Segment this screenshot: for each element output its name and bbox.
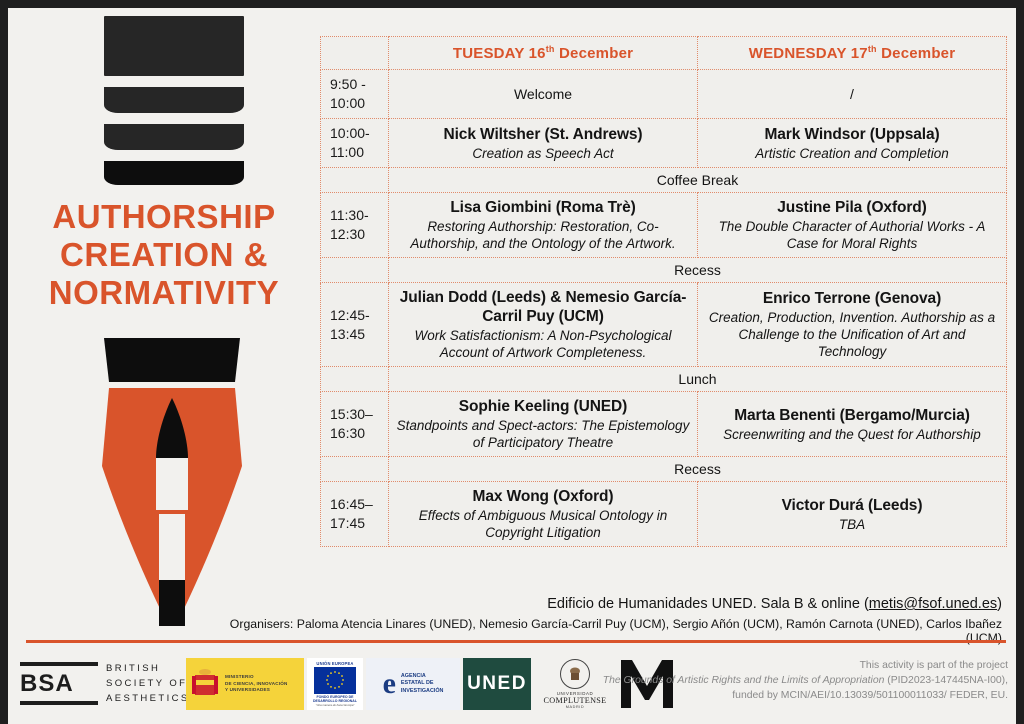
time-line-2: 16:30 [330, 424, 382, 443]
project-title-italic: The Grounds of Artistic Rights and the L… [603, 675, 885, 686]
time-line-1: 9:50 - [330, 75, 382, 94]
uned-wordmark: UNED [467, 673, 527, 695]
poster-title: AUTHORSHIP CREATION & NORMATIVITY [8, 198, 320, 312]
eu-top-label: UNIÓN EUROPEA [316, 661, 353, 666]
session-cell-tuesday: Julian Dodd (Leeds) & Nemesio García-Car… [389, 283, 698, 367]
session-title: Effects of Ambiguous Musical Ontology in… [395, 507, 691, 541]
aei-text: AGENCIA ESTATAL DE INVESTIGACIÓN [401, 673, 444, 695]
session-title: Creation, Production, Invention. Authors… [704, 309, 1000, 360]
venue-text: Edificio de Humanidades UNED. Sala B & o… [547, 596, 869, 612]
ministerio-line-3: Y UNIVERSIDADES [225, 687, 288, 693]
time-line-1: 10:00- [330, 124, 382, 143]
break-label: Coffee Break [389, 168, 1007, 193]
bsa-rule-bottom [20, 701, 98, 705]
session-title: Work Satisfactionism: A Non-Psychologica… [395, 327, 691, 361]
table-break-row: Recess [321, 258, 1007, 283]
time-line-2: 11:00 [330, 143, 382, 162]
uned-logo: UNED [463, 658, 531, 710]
header-wednesday-suffix: December [877, 45, 956, 62]
session-cell-wednesday: Victor Durá (Leeds)TBA [698, 482, 1007, 547]
break-label: Recess [389, 457, 1007, 482]
session-time: 15:30–16:30 [321, 392, 389, 457]
session-speaker: Victor Durá (Leeds) [704, 496, 1000, 515]
break-time-cell [321, 258, 389, 283]
pen-bar-1 [104, 16, 244, 76]
table-session-row: 16:45–17:45Max Wong (Oxford)Effects of A… [321, 482, 1007, 547]
table-session-row: 10:00-11:00Nick Wiltsher (St. Andrews)Cr… [321, 119, 1007, 168]
session-cell-wednesday: Justine Pila (Oxford)The Double Characte… [698, 193, 1007, 258]
aei-logo: e AGENCIA ESTATAL DE INVESTIGACIÓN [366, 658, 460, 710]
session-cell-wednesday: / [698, 70, 1007, 119]
time-line-1: 15:30– [330, 405, 382, 424]
eu-stars-icon [325, 670, 345, 690]
time-line-1: 12:45- [330, 306, 382, 325]
project-grant-id: (PID2023-147445NA-I00), [884, 675, 1008, 686]
session-speaker: Enrico Terrone (Genova) [704, 289, 1000, 308]
session-speaker: Sophie Keeling (UNED) [395, 397, 691, 416]
header-wednesday-label: WEDNESDAY 17 [749, 45, 868, 62]
session-title: Artistic Creation and Completion [704, 145, 1000, 162]
venue-line: Edificio de Humanidades UNED. Sala B & o… [320, 596, 1006, 612]
pen-bar-2 [104, 87, 244, 113]
project-line-1: This activity is part of the project [566, 658, 1008, 673]
project-line-3: funded by MCIN/AEI/10.13039/501100011033… [566, 688, 1008, 703]
break-time-cell [321, 457, 389, 482]
session-time: 10:00-11:00 [321, 119, 389, 168]
project-line-2: The Grounds of Artistic Rights and the L… [566, 673, 1008, 688]
break-label: Recess [389, 258, 1007, 283]
table-break-row: Recess [321, 457, 1007, 482]
spain-coat-of-arms-icon [190, 667, 220, 701]
header-time-col [321, 37, 389, 70]
conference-poster: AUTHORSHIP CREATION & NORMATIVITY [8, 8, 1016, 724]
time-line-2: 17:45 [330, 514, 382, 533]
aei-line-3: INVESTIGACIÓN [401, 688, 444, 695]
time-line-2: 10:00 [330, 94, 382, 113]
break-label: Lunch [389, 367, 1007, 392]
bsa-word-2: SOCIETY OF [106, 676, 190, 691]
title-line-2: CREATION & [8, 236, 320, 274]
session-speaker: Mark Windsor (Uppsala) [704, 125, 1000, 144]
break-time-cell [321, 367, 389, 392]
table-break-row: Coffee Break [321, 168, 1007, 193]
session-time: 16:45–17:45 [321, 482, 389, 547]
header-wednesday-sup: th [868, 44, 877, 54]
break-time-cell [321, 168, 389, 193]
schedule-table: TUESDAY 16th December WEDNESDAY 17th Dec… [320, 36, 1007, 547]
session-title: Screenwriting and the Quest for Authorsh… [704, 426, 1000, 443]
pen-cap-illustration [104, 16, 244, 196]
table-session-row: 11:30-12:30Lisa Giombini (Roma Trè)Resto… [321, 193, 1007, 258]
session-plain-text: / [704, 85, 1000, 103]
session-cell-wednesday: Marta Benenti (Bergamo/Murcia)Screenwrit… [698, 392, 1007, 457]
poster-footer: BSA BRITISH SOCIETY OF AESTHETICS MINIST… [8, 648, 1016, 724]
title-line-3: NORMATIVITY [8, 274, 320, 312]
header-tuesday: TUESDAY 16th December [389, 37, 698, 70]
aei-mark: e [383, 669, 396, 699]
ministerio-logo: MINISTERIO DE CIENCIA, INNOVACIÓN Y UNIV… [186, 658, 304, 710]
poster-left-panel: AUTHORSHIP CREATION & NORMATIVITY [8, 8, 320, 648]
table-session-row: 15:30–16:30Sophie Keeling (UNED)Standpoi… [321, 392, 1007, 457]
eu-feder-logo: UNIÓN EUROPEA FONDO EUROPEO DE DESARROLL… [307, 658, 363, 710]
bsa-word-1: BRITISH [106, 661, 190, 676]
pen-bar-3 [104, 124, 244, 150]
bsa-logo: BSA BRITISH SOCIETY OF AESTHETICS [20, 658, 170, 710]
aei-line-2: ESTATAL DE [401, 680, 444, 687]
eu-motto: "Una manera de hacer Europa" [316, 703, 355, 707]
bsa-acronym: BSA [20, 670, 74, 698]
pen-bar-4 [104, 161, 244, 185]
session-speaker: Julian Dodd (Leeds) & Nemesio García-Car… [395, 288, 691, 326]
header-tuesday-sup: th [546, 44, 555, 54]
session-title: Restoring Authorship: Restoration, Co-Au… [395, 218, 691, 252]
title-line-1: AUTHORSHIP [8, 198, 320, 236]
time-line-1: 11:30- [330, 206, 382, 225]
session-plain-text: Welcome [395, 85, 691, 103]
time-line-2: 12:30 [330, 225, 382, 244]
session-title: TBA [704, 516, 1000, 533]
session-title: The Double Character of Authorial Works … [704, 218, 1000, 252]
schedule-body: 9:50 -10:00Welcome/10:00-11:00Nick Wilts… [321, 70, 1007, 547]
time-line-2: 13:45 [330, 325, 382, 344]
session-speaker: Lisa Giombini (Roma Trè) [395, 198, 691, 217]
table-break-row: Lunch [321, 367, 1007, 392]
venue-text-after: ) [997, 596, 1002, 612]
session-title: Standpoints and Spect-actors: The Episte… [395, 417, 691, 451]
table-session-row: 9:50 -10:00Welcome/ [321, 70, 1007, 119]
session-cell-tuesday: Sophie Keeling (UNED)Standpoints and Spe… [389, 392, 698, 457]
aei-line-1: AGENCIA [401, 673, 444, 680]
session-title: Creation as Speech Act [395, 145, 691, 162]
header-tuesday-suffix: December [555, 45, 634, 62]
pen-nib-svg [92, 338, 252, 628]
eu-flag-icon [314, 667, 356, 694]
session-cell-tuesday: Lisa Giombini (Roma Trè)Restoring Author… [389, 193, 698, 258]
session-cell-wednesday: Mark Windsor (Uppsala)Artistic Creation … [698, 119, 1007, 168]
session-speaker: Marta Benenti (Bergamo/Murcia) [704, 406, 1000, 425]
session-speaker: Justine Pila (Oxford) [704, 198, 1000, 217]
bsa-rule-top [20, 662, 98, 666]
ucm-line-3: MADRID [566, 705, 585, 709]
ministerio-text: MINISTERIO DE CIENCIA, INNOVACIÓN Y UNIV… [225, 674, 288, 693]
session-cell-tuesday: Welcome [389, 70, 698, 119]
session-cell-tuesday: Nick Wiltsher (St. Andrews)Creation as S… [389, 119, 698, 168]
header-wednesday: WEDNESDAY 17th December [698, 37, 1007, 70]
schedule-table-wrap: TUESDAY 16th December WEDNESDAY 17th Dec… [320, 36, 1006, 547]
session-time: 9:50 -10:00 [321, 70, 389, 119]
header-tuesday-label: TUESDAY 16 [453, 45, 546, 62]
bsa-wordmark: BRITISH SOCIETY OF AESTHETICS [106, 661, 190, 706]
session-time: 12:45-13:45 [321, 283, 389, 367]
contact-email-link[interactable]: metis@fsof.uned.es [869, 596, 997, 612]
session-time: 11:30-12:30 [321, 193, 389, 258]
table-header-row: TUESDAY 16th December WEDNESDAY 17th Dec… [321, 37, 1007, 70]
session-speaker: Nick Wiltsher (St. Andrews) [395, 125, 691, 144]
project-funding-text: This activity is part of the project The… [566, 658, 1008, 703]
bsa-word-3: AESTHETICS [106, 691, 190, 706]
horizontal-divider [26, 640, 1006, 643]
session-speaker: Max Wong (Oxford) [395, 487, 691, 506]
table-session-row: 12:45-13:45Julian Dodd (Leeds) & Nemesio… [321, 283, 1007, 367]
pen-nib-illustration [92, 338, 252, 628]
time-line-1: 16:45– [330, 495, 382, 514]
eu-bottom-label: FONDO EUROPEO DE DESARROLLO REGIONAL [307, 695, 363, 704]
session-cell-tuesday: Max Wong (Oxford)Effects of Ambiguous Mu… [389, 482, 698, 547]
session-cell-wednesday: Enrico Terrone (Genova)Creation, Product… [698, 283, 1007, 367]
